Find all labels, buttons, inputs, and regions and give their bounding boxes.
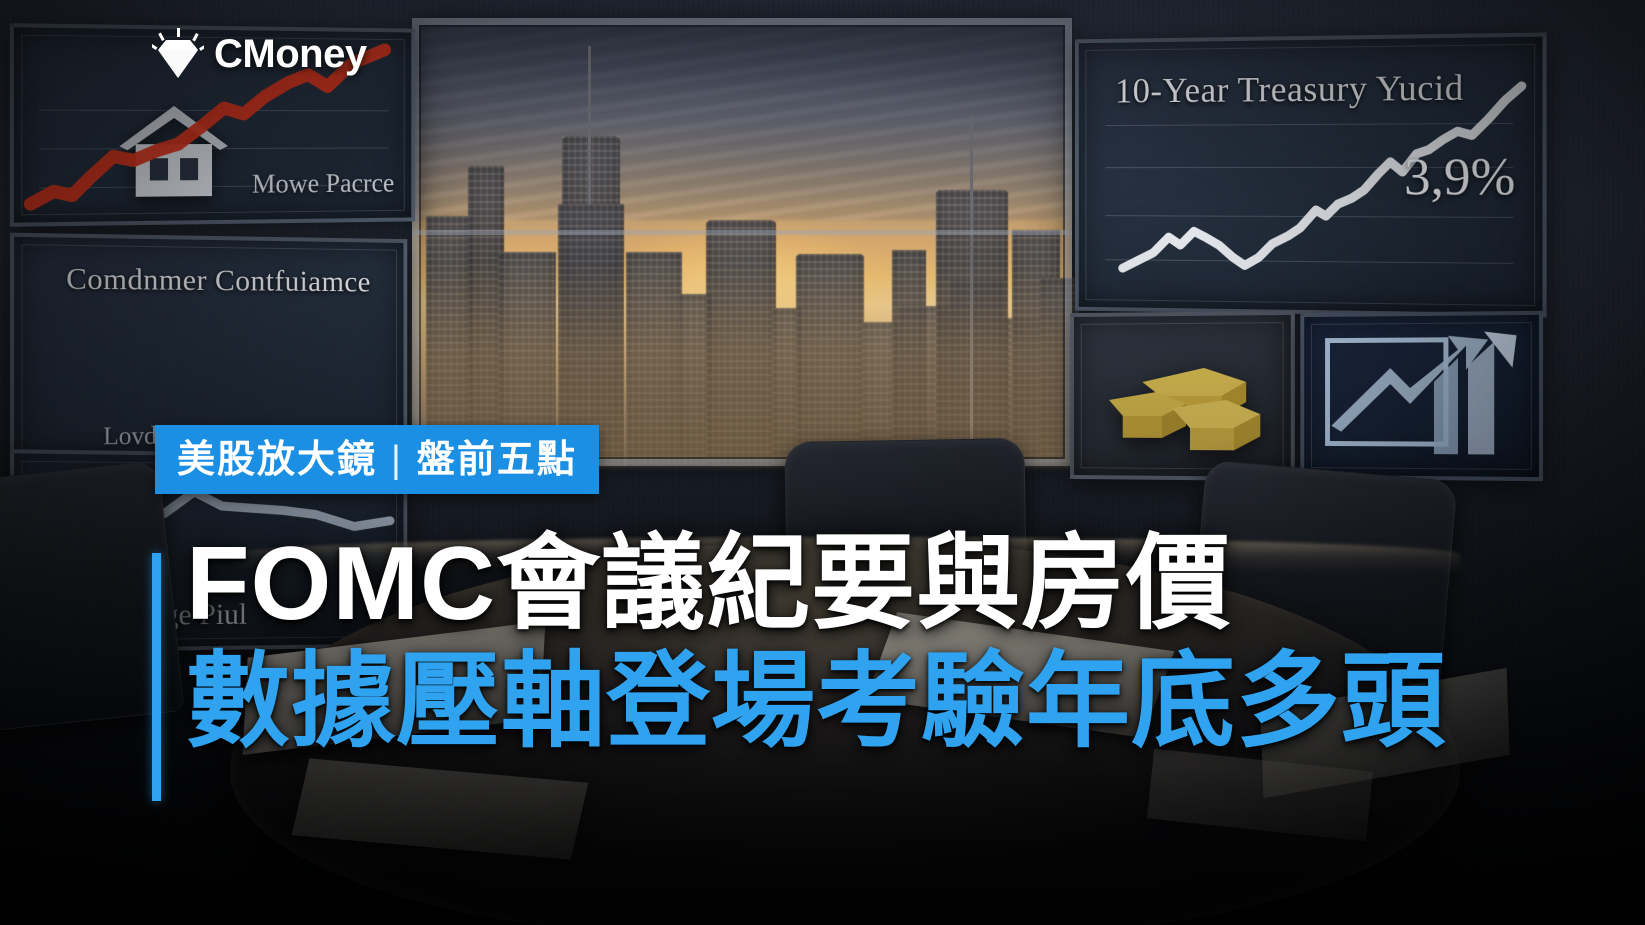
panel-title-consumer-confidence: Comdnmer Contfuiamce (66, 262, 371, 299)
cover-image: Mowe Pacrce Comdnmer Contfuiamce Lovd Dp… (0, 0, 1645, 925)
treasury-yield-value: 3,9% (1404, 147, 1515, 207)
gauge-low-label: Lovd (103, 423, 157, 452)
headline-accent-bar (152, 553, 161, 801)
panel-caption-home-prices: Mowe Pacrce (252, 168, 394, 200)
panel-growth-arrows[interactable] (1300, 311, 1543, 481)
gold-bars-icon (1095, 337, 1270, 456)
banner-segment: 盤前五點 (417, 441, 577, 479)
up-arrow-chart-icon (1318, 325, 1525, 467)
banner-category: 美股放大鏡 (177, 441, 377, 479)
panel-gold[interactable] (1070, 311, 1295, 481)
headline-block: FOMC會議紀要與房價 數據壓軸登場考驗年底多頭 (186, 528, 1446, 759)
headline-line-2: 數據壓軸登場考驗年底多頭 (186, 646, 1446, 758)
headline-line-1: FOMC會議紀要與房價 (186, 528, 1446, 640)
window-frame (412, 18, 1072, 466)
brand-logo[interactable]: CMoney (152, 28, 367, 80)
window-city-skyline (412, 18, 1072, 466)
banner-separator: | (391, 441, 403, 479)
brand-name: CMoney (214, 32, 367, 77)
category-banner[interactable]: 美股放大鏡 | 盤前五點 (155, 425, 599, 494)
diamond-icon (152, 28, 204, 80)
panel-treasury-yield[interactable]: 10-Year Treasury Yucid 3,9% (1075, 32, 1547, 317)
